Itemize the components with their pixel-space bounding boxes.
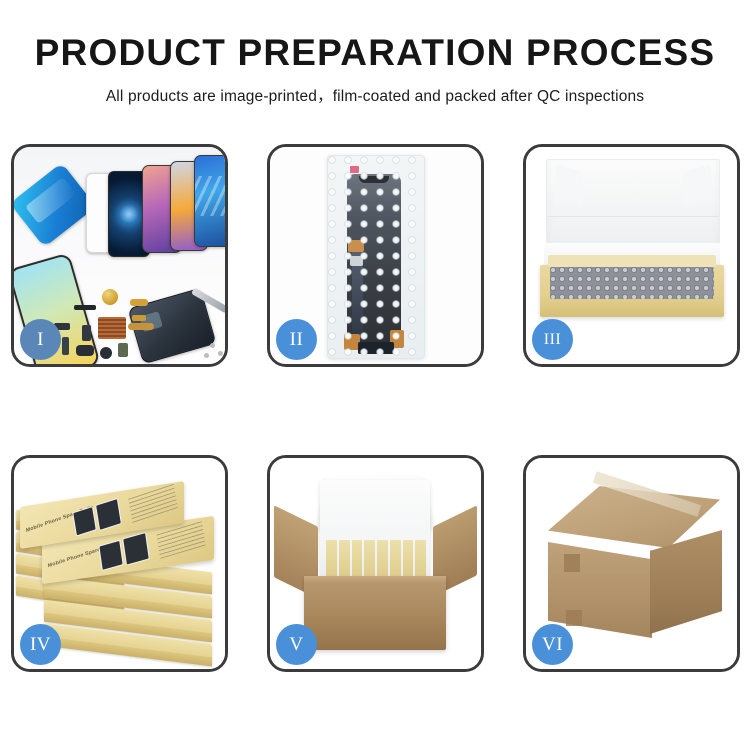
screw-icon xyxy=(218,351,223,356)
step-badge-6: VI xyxy=(532,624,573,665)
part-icon xyxy=(74,305,96,310)
step-panel-6[interactable]: VI xyxy=(523,455,740,672)
box-art-phone xyxy=(95,498,122,531)
step-panel-4[interactable]: Mobile Phone Spare Parts Mobile Phone Sp… xyxy=(11,455,228,672)
bubble-wrapped-contents xyxy=(550,267,714,299)
flex-cable-icon xyxy=(128,323,154,330)
header: PRODUCT PREPARATION PROCESS All products… xyxy=(0,0,750,106)
step-badge-3: III xyxy=(532,319,573,360)
kraft-boxes-inside xyxy=(326,540,426,580)
part-icon xyxy=(76,345,94,356)
part-icon xyxy=(100,347,112,359)
ic-chip-icon xyxy=(98,317,126,339)
step-panel-2[interactable]: II xyxy=(267,144,484,367)
part-icon xyxy=(132,315,146,321)
camera-module-icon xyxy=(102,289,118,305)
box-spec-lines xyxy=(128,483,178,523)
page-subtitle: All products are image-printed，film-coat… xyxy=(0,84,750,106)
part-icon xyxy=(130,299,148,306)
step-panel-1[interactable]: I xyxy=(11,144,228,367)
battery-icon xyxy=(118,343,128,357)
box-art-phone xyxy=(72,506,97,537)
product-preparation-infographic: PRODUCT PREPARATION PROCESS All products… xyxy=(0,0,750,750)
carton-body xyxy=(304,576,446,650)
screw-icon xyxy=(204,353,209,358)
box-art-phone xyxy=(122,532,150,566)
step-panel-3[interactable]: III xyxy=(523,144,740,367)
step-badge-2: II xyxy=(276,319,317,360)
part-icon xyxy=(62,337,69,355)
step-panel-5[interactable]: V xyxy=(267,455,484,672)
carton-flap-edge xyxy=(566,610,582,626)
step-badge-5: V xyxy=(276,624,317,665)
step-badge-4: IV xyxy=(20,624,61,665)
part-icon xyxy=(82,325,91,341)
carton-flap-edge xyxy=(564,554,580,572)
page-title: PRODUCT PREPARATION PROCESS xyxy=(0,34,750,73)
bubble-texture xyxy=(328,156,424,358)
screw-icon xyxy=(210,343,215,348)
step-badge-1: I xyxy=(20,319,61,360)
bubble-wrap-bag xyxy=(327,155,425,359)
lcd-screen-wave xyxy=(194,155,225,247)
steps-grid: I II xyxy=(11,144,740,672)
box-art-phone xyxy=(98,540,123,571)
